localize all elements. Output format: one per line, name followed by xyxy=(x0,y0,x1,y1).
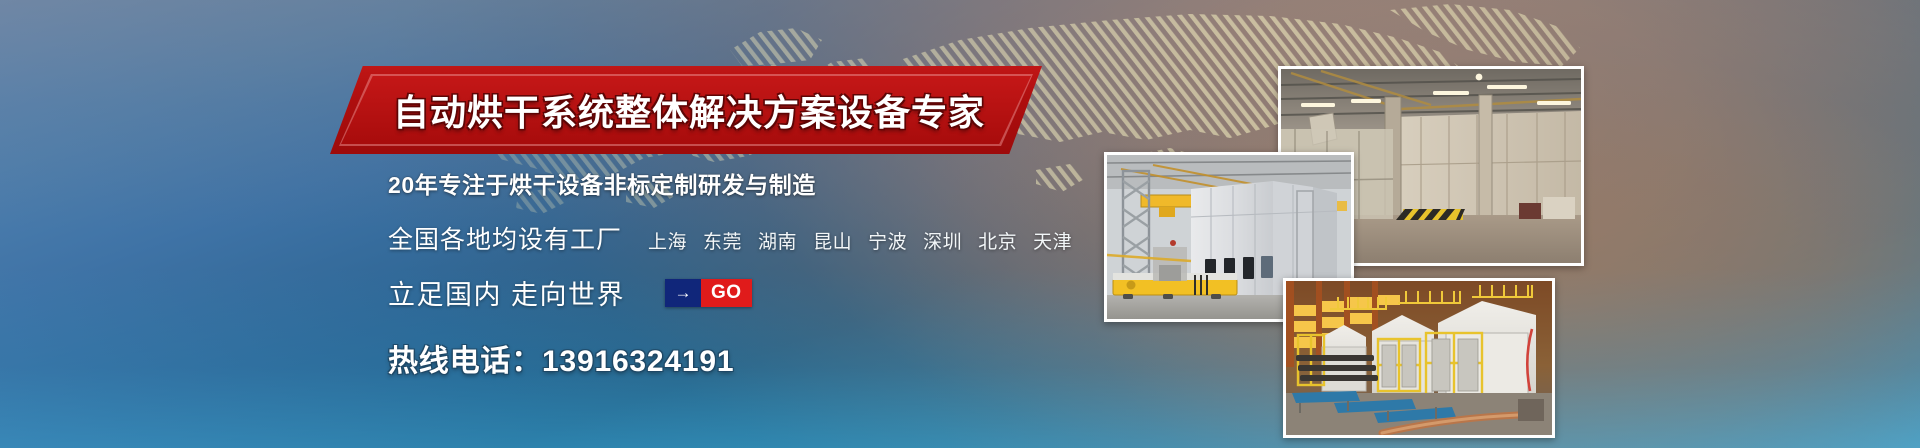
city-item: 东莞 xyxy=(703,227,742,254)
banner-slogan: 立足国内 走向世界 xyxy=(388,273,625,312)
arrow-right-icon: → xyxy=(665,279,701,307)
city-list: 上海 东莞 湖南 昆山 宁波 深圳 北京 天津 xyxy=(648,227,1072,254)
go-button-label: GO xyxy=(701,279,752,307)
city-item: 天津 xyxy=(1033,227,1072,254)
factories-label: 全国各地均设有工厂 xyxy=(388,220,622,256)
promo-banner: 自动烘干系统整体解决方案设备专家 20年专注于烘干设备非标定制研发与制造 全国各… xyxy=(0,0,1920,448)
slogan-line: 立足国内 走向世界 → GO xyxy=(388,273,1108,312)
city-item: 深圳 xyxy=(923,227,962,254)
go-button[interactable]: → GO xyxy=(665,279,752,307)
factories-line: 全国各地均设有工厂 上海 东莞 湖南 昆山 宁波 深圳 北京 天津 xyxy=(388,220,1108,256)
banner-subtitle: 20年专注于烘干设备非标定制研发与制造 xyxy=(388,166,1108,200)
city-item: 上海 xyxy=(648,227,687,254)
city-item: 宁波 xyxy=(868,227,907,254)
copy-block: 20年专注于烘干设备非标定制研发与制造 全国各地均设有工厂 上海 东莞 湖南 昆… xyxy=(388,166,1108,380)
banner-title: 自动烘干系统整体解决方案设备专家 xyxy=(330,66,1042,154)
city-item: 北京 xyxy=(978,227,1017,254)
production-line-photo xyxy=(1283,278,1555,438)
title-ribbon: 自动烘干系统整体解决方案设备专家 xyxy=(330,66,1042,154)
hotline-text: 热线电话：13916324191 xyxy=(388,336,1108,380)
city-item: 湖南 xyxy=(758,227,797,254)
city-item: 昆山 xyxy=(813,227,852,254)
